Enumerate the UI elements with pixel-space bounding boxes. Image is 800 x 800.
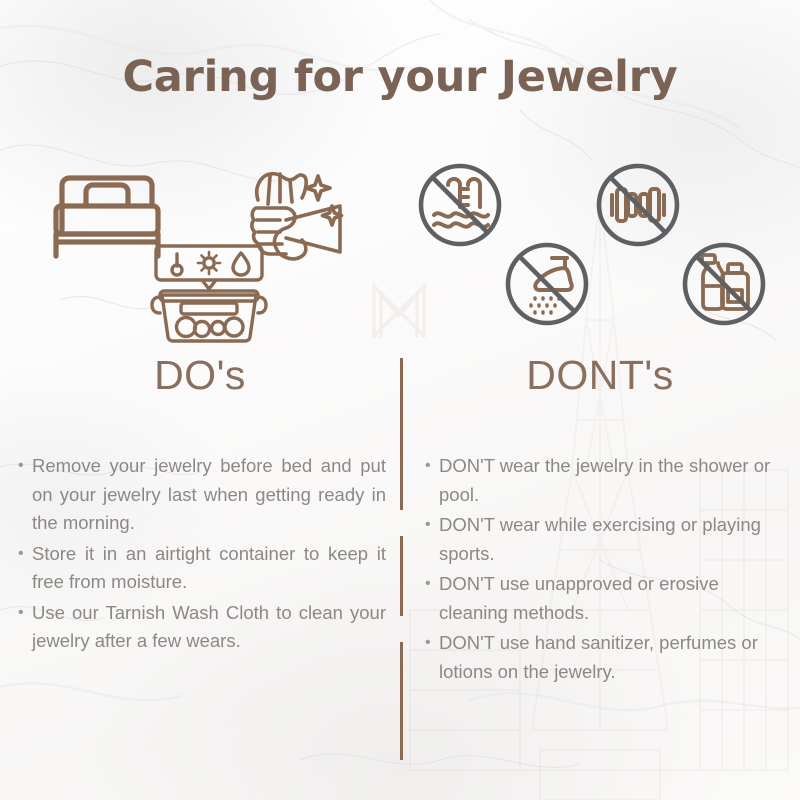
list-item: • Use our Tarnish Wash Cloth to clean yo… xyxy=(18,599,386,656)
bullet-marker: • xyxy=(18,540,32,569)
dos-list: • Remove your jewelry before bed and put… xyxy=(18,452,386,658)
bullet-marker: • xyxy=(425,452,439,481)
bullet-marker: • xyxy=(18,599,32,628)
no-lotion-bottles-icon xyxy=(682,242,766,326)
bed-icon xyxy=(48,172,166,268)
list-item: • DON'T use unapproved or erosive cleani… xyxy=(425,570,787,627)
airtight-container-icon xyxy=(148,243,270,343)
polishing-cloth-icon xyxy=(246,168,350,274)
list-item: • DON'T wear the jewelry in the shower o… xyxy=(425,452,787,509)
list-item-text: DON'T wear while exercising or playing s… xyxy=(439,511,787,568)
dos-heading: DO's xyxy=(0,352,400,399)
bullet-marker: • xyxy=(425,570,439,599)
m-monogram-logo xyxy=(368,280,430,340)
list-item-text: Remove your jewelry before bed and put o… xyxy=(32,452,386,538)
column-divider xyxy=(400,358,403,762)
list-item-text: Store it in an airtight container to kee… xyxy=(32,540,386,597)
list-item: • DON'T wear while exercising or playing… xyxy=(425,511,787,568)
page-title: Caring for your Jewelry xyxy=(0,52,800,102)
infographic-page: Caring for your Jewelry xyxy=(0,0,800,800)
list-item-text: DON'T use hand sanitizer, perfumes or lo… xyxy=(439,629,787,686)
no-swimming-pool-icon xyxy=(418,163,502,247)
list-item: • Store it in an airtight container to k… xyxy=(18,540,386,597)
donts-heading: DONT's xyxy=(400,352,800,399)
no-shower-icon xyxy=(505,242,589,326)
list-item: • DON'T use hand sanitizer, perfumes or … xyxy=(425,629,787,686)
no-dumbbell-icon xyxy=(596,163,680,247)
list-item: • Remove your jewelry before bed and put… xyxy=(18,452,386,538)
list-item-text: Use our Tarnish Wash Cloth to clean your… xyxy=(32,599,386,656)
bullet-marker: • xyxy=(425,629,439,658)
donts-list: • DON'T wear the jewelry in the shower o… xyxy=(425,452,787,688)
list-item-text: DON'T use unapproved or erosive cleaning… xyxy=(439,570,787,627)
bullet-marker: • xyxy=(18,452,32,481)
list-item-text: DON'T wear the jewelry in the shower or … xyxy=(439,452,787,509)
bullet-marker: • xyxy=(425,511,439,540)
